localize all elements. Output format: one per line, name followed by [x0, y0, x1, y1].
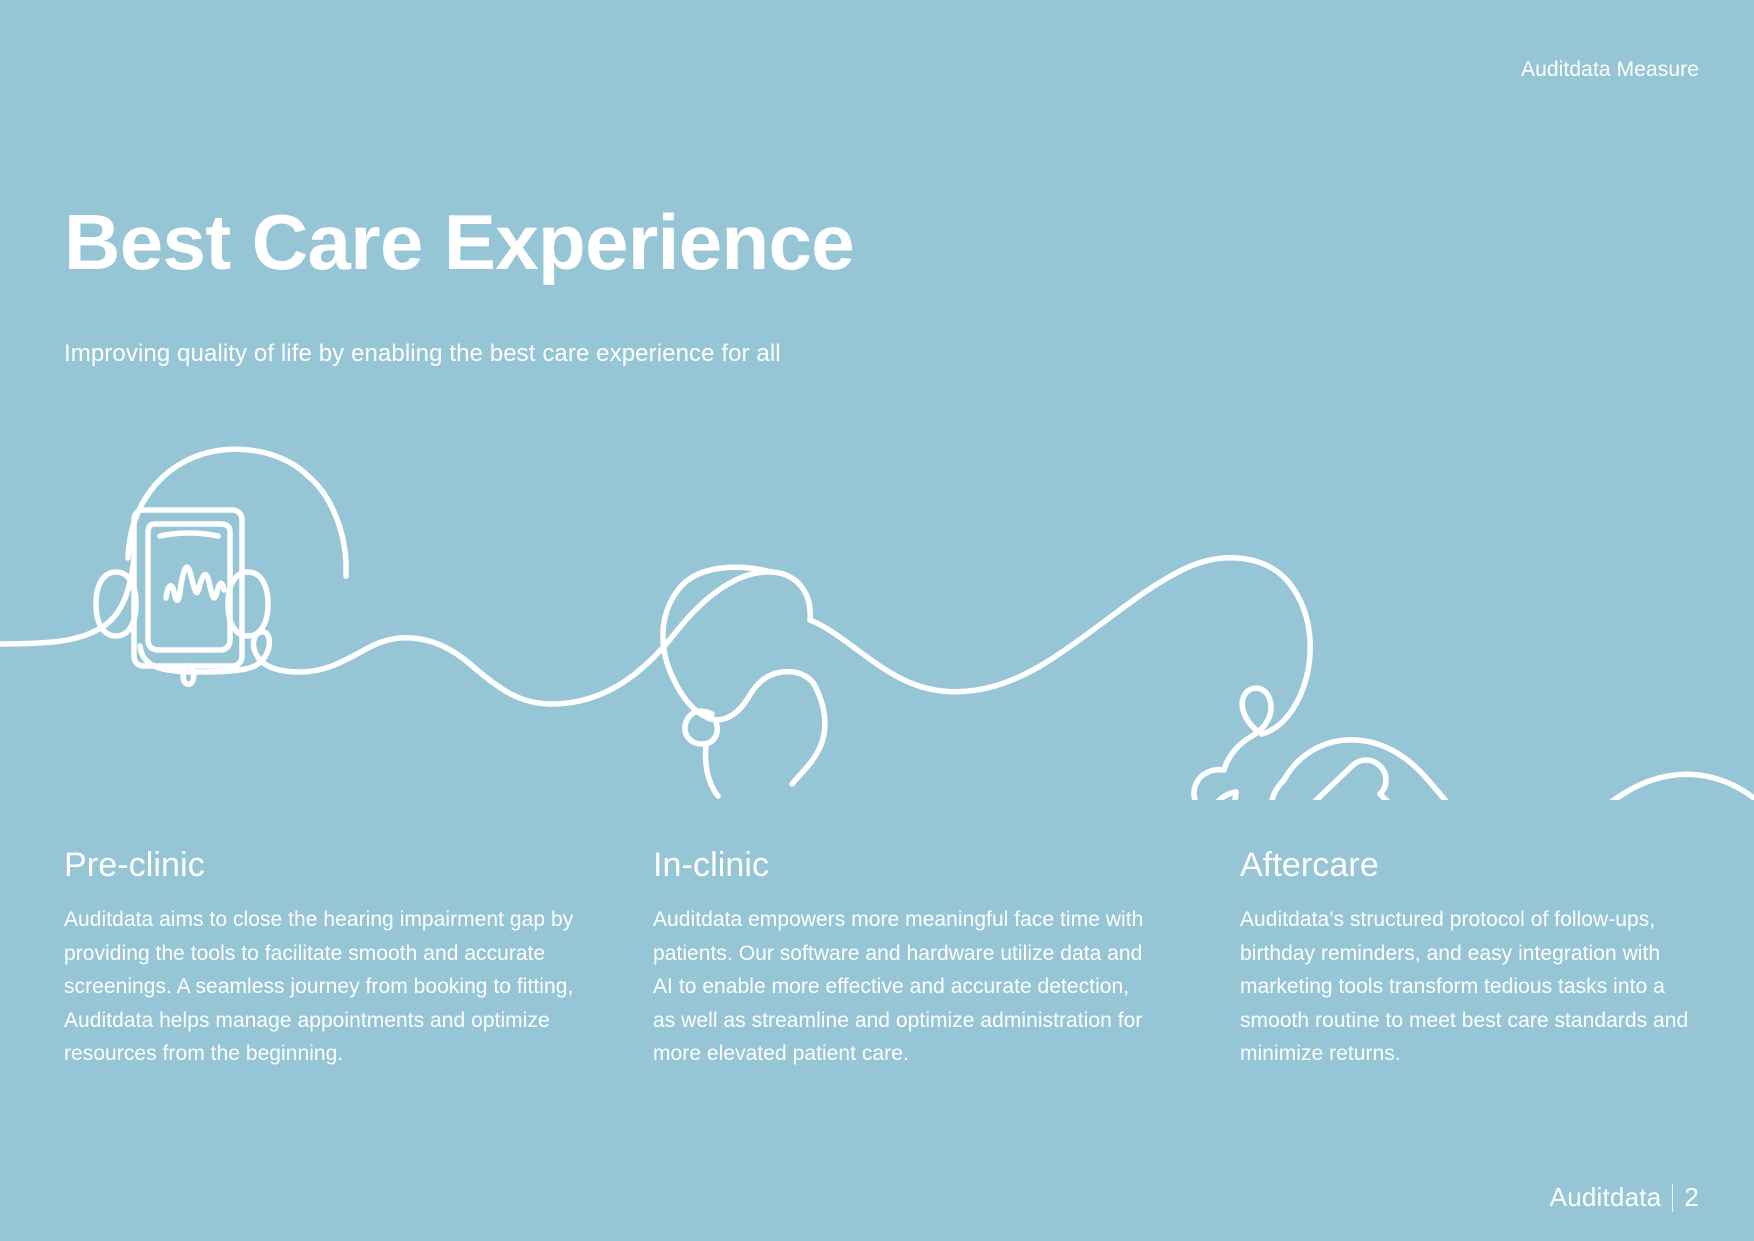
column-heading-in-clinic: In-clinic: [653, 845, 1153, 885]
tablet-headphones-audiogram-icon: [96, 449, 346, 684]
slide: Auditdata Measure Best Care Experience I…: [0, 0, 1754, 1241]
column-heading-aftercare: Aftercare: [1240, 845, 1700, 885]
connector-line-middle: [772, 572, 810, 620]
connector-line-right: [810, 558, 1310, 734]
column-in-clinic: In-clinic Auditdata empowers more meanin…: [653, 845, 1153, 1071]
slide-footer: Auditdata 2: [1550, 1182, 1699, 1213]
page-title: Best Care Experience: [64, 198, 854, 286]
journey-columns: Pre-clinic Auditdata aims to close the h…: [0, 845, 1754, 1105]
journey-illustration: [0, 420, 1754, 800]
column-body-in-clinic: Auditdata empowers more meaningful face …: [653, 903, 1153, 1071]
footer-brand: Auditdata: [1550, 1182, 1662, 1213]
column-body-pre-clinic: Auditdata aims to close the hearing impa…: [64, 903, 574, 1071]
footer-page-number: 2: [1684, 1182, 1699, 1213]
ear-icon: [663, 567, 825, 796]
column-body-aftercare: Auditdata’s structured protocol of follo…: [1240, 903, 1700, 1071]
page-subtitle: Improving quality of life by enabling th…: [64, 338, 781, 370]
handshake-icon: [1194, 688, 1754, 800]
column-pre-clinic: Pre-clinic Auditdata aims to close the h…: [64, 845, 574, 1071]
column-aftercare: Aftercare Auditdata’s structured protoco…: [1240, 845, 1700, 1071]
product-label: Auditdata Measure: [1521, 58, 1699, 82]
connector-line-left: [0, 560, 772, 704]
column-heading-pre-clinic: Pre-clinic: [64, 845, 574, 885]
footer-separator: [1672, 1184, 1673, 1212]
